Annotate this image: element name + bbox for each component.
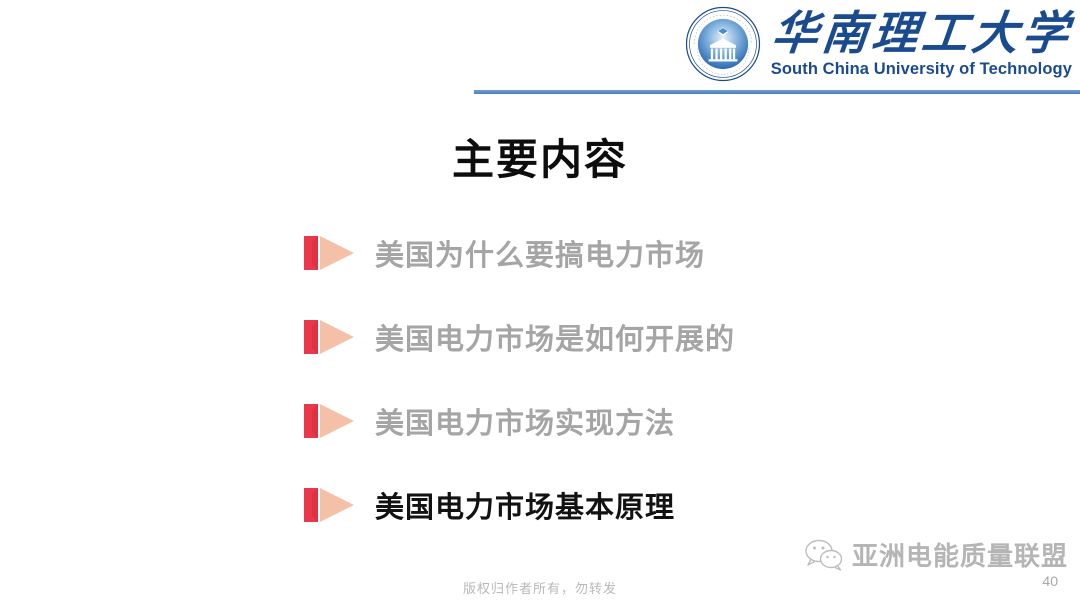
list-item-label: 美国电力市场实现方法 xyxy=(375,400,675,442)
list-item-label: 美国为什么要搞电力市场 xyxy=(375,232,705,274)
wechat-icon xyxy=(804,538,844,572)
university-name-en: South China University of Technology xyxy=(771,61,1072,78)
arrow-bullet-icon xyxy=(302,231,358,275)
university-branding: 华南理工大学 South China University of Technol… xyxy=(685,6,1072,82)
list-item[interactable]: 美国电力市场实现方法 xyxy=(302,396,1002,446)
list-item[interactable]: 美国为什么要搞电力市场 xyxy=(302,228,1002,278)
arrow-bullet-icon xyxy=(302,483,358,527)
header-divider-rule xyxy=(474,90,1080,94)
list-item-active[interactable]: 美国电力市场基本原理 xyxy=(302,480,1002,530)
list-item-label: 美国电力市场是如何开展的 xyxy=(375,316,735,358)
slide-canvas: 华南理工大学 South China University of Technol… xyxy=(0,0,1080,608)
agenda-list: 美国为什么要搞电力市场 美国电力市场是如何开展的 美国电力市场实现方法 xyxy=(302,228,1002,530)
watermark: 亚洲电能质量联盟 xyxy=(804,536,1068,573)
scut-seal-icon xyxy=(685,6,761,82)
watermark-label: 亚洲电能质量联盟 xyxy=(852,536,1068,573)
university-name-cn: 华南理工大学 xyxy=(770,11,1075,57)
arrow-bullet-icon xyxy=(302,315,358,359)
copyright-note: 版权归作者所有，勿转发 xyxy=(0,578,1080,597)
arrow-bullet-icon xyxy=(302,399,358,443)
list-item-label: 美国电力市场基本原理 xyxy=(375,484,675,526)
page-number: 40 xyxy=(1042,573,1058,589)
brand-text-block: 华南理工大学 South China University of Technol… xyxy=(771,11,1072,78)
list-item[interactable]: 美国电力市场是如何开展的 xyxy=(302,312,1002,362)
page-title: 主要内容 xyxy=(0,126,1080,187)
